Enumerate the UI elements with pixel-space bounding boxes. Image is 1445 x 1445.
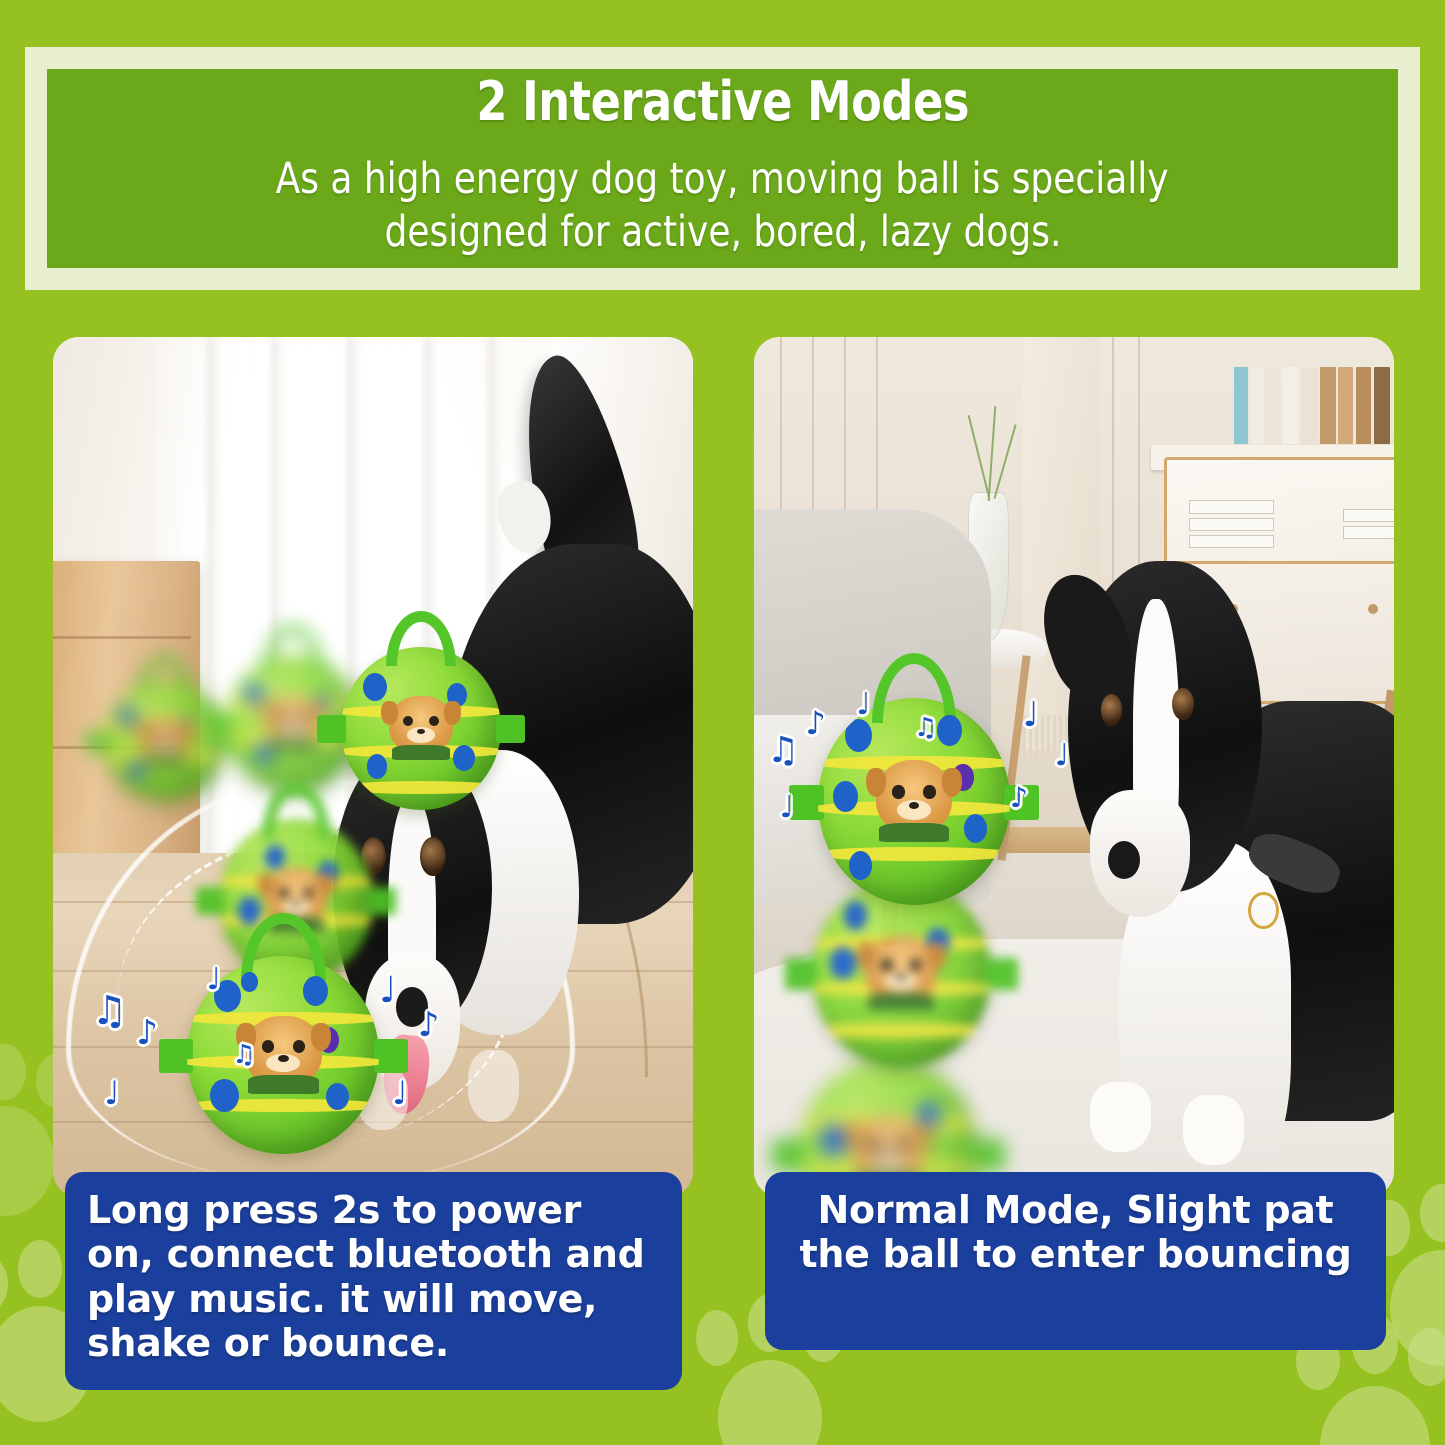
caption-left-text: Long press 2s to power on, connect bluet…	[87, 1188, 660, 1366]
scene-normal-bouncing-mode: ♫ ♪ ♩ ♩ ♩ ♩ ♪ ♫	[754, 337, 1394, 1197]
music-note-icon: ♪	[418, 1008, 440, 1042]
music-note-icon: ♩	[1055, 741, 1069, 771]
music-note-icon: ♩	[1023, 698, 1039, 732]
header-banner: 2 Interactive Modes As a high energy dog…	[25, 47, 1420, 290]
mode-photo-left: ♫ ♪ ♩ ♩ ♩ ♪ ♩ ♫	[53, 337, 693, 1197]
caption-right-text: Normal Mode, Slight pat the ball to ente…	[787, 1188, 1364, 1277]
caption-right: Normal Mode, Slight pat the ball to ente…	[765, 1172, 1386, 1350]
music-note-icon: ♪	[1010, 784, 1028, 812]
music-note-icon: ♩	[392, 1077, 407, 1109]
music-note-icon: ♫	[91, 991, 127, 1031]
music-note-icon: ♩	[207, 965, 221, 995]
header-subtitle-line-2: designed for active, bored, lazy dogs.	[384, 206, 1061, 258]
dog-ball-toy-icon	[341, 647, 501, 810]
mode-photo-right: ♫ ♪ ♩ ♩ ♩ ♩ ♪ ♫	[754, 337, 1394, 1197]
music-note-icon: ♪	[136, 1016, 158, 1050]
music-note-icon: ♫	[232, 1042, 255, 1068]
music-note-icon: ♪	[805, 707, 825, 739]
music-note-icon: ♩	[104, 1077, 119, 1109]
caption-left: Long press 2s to power on, connect bluet…	[65, 1172, 682, 1390]
dog-ball-toy-icon	[812, 879, 991, 1068]
product-infographic: 2 Interactive Modes As a high energy dog…	[0, 0, 1445, 1445]
music-note-icon: ♫	[914, 715, 937, 741]
music-note-icon: ♩	[856, 690, 870, 720]
header-subtitle-line-1: As a high energy dog toy, moving ball is…	[276, 153, 1169, 205]
scene-bluetooth-music-mode: ♫ ♪ ♩ ♩ ♩ ♪ ♩ ♫	[53, 337, 693, 1197]
music-note-icon: ♩	[780, 793, 794, 823]
page-title: 2 Interactive Modes	[476, 75, 969, 129]
border-collie-right	[1061, 561, 1394, 1197]
header-inner-box: 2 Interactive Modes As a high energy dog…	[47, 69, 1398, 268]
music-note-icon: ♫	[767, 733, 799, 769]
dog-ball-toy-icon	[104, 681, 226, 801]
music-note-icon: ♩	[379, 973, 396, 1009]
